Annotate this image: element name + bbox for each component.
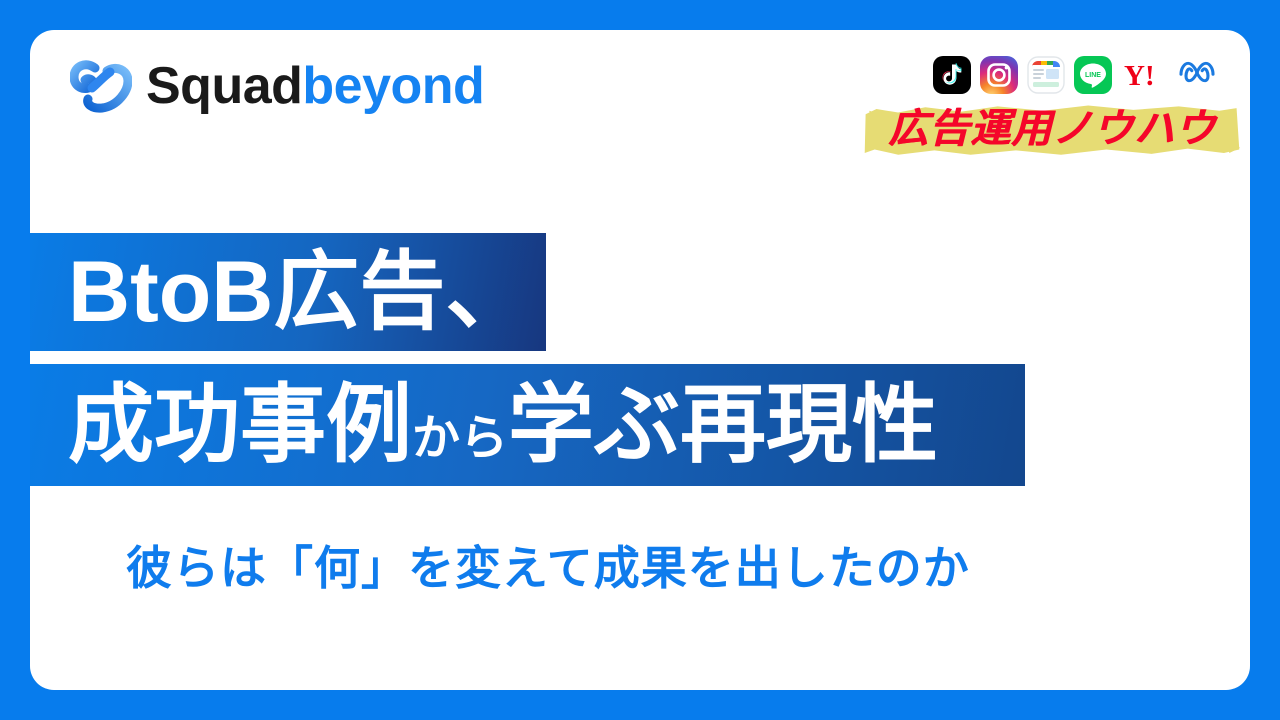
instagram-icon	[980, 56, 1018, 94]
brand-logo: Squadbeyond	[70, 58, 484, 114]
smartnews-icon	[1027, 56, 1065, 94]
tiktok-icon	[933, 56, 971, 94]
subtitle-text: 彼らは「何」を変えて成果を出したのか	[126, 543, 970, 594]
social-platform-icons: LINE Y!	[933, 56, 1220, 94]
logo-wordmark: Squadbeyond	[146, 60, 484, 112]
logo-word-beyond: beyond	[302, 57, 484, 115]
title-line2-part1: 成功事例	[68, 377, 412, 473]
status-badge: 広告運用ノウハウ	[862, 102, 1242, 160]
content-card: Squadbeyond	[30, 30, 1250, 690]
slide-canvas: Squadbeyond	[0, 0, 1280, 720]
badge-label: 広告運用ノウハウ	[888, 107, 1216, 151]
title-line1: BtoB広告、	[68, 249, 531, 335]
title-line2: 成功事例から学ぶ再現性	[68, 382, 938, 468]
meta-icon	[1174, 56, 1220, 94]
title-line2-part2: 学ぶ再現性	[508, 377, 938, 473]
squad-beyond-infinity-mark	[70, 58, 132, 114]
logo-word-squad: Squad	[146, 57, 302, 115]
title-line2-kana: から	[412, 412, 508, 465]
line-icon: LINE	[1074, 56, 1112, 94]
title-band-line2: 成功事例から学ぶ再現性	[30, 364, 1025, 486]
title-band-line1: BtoB広告、	[30, 233, 546, 351]
svg-text:Y!: Y!	[1124, 60, 1155, 92]
yahoo-icon: Y!	[1121, 56, 1165, 94]
svg-text:LINE: LINE	[1085, 72, 1101, 79]
